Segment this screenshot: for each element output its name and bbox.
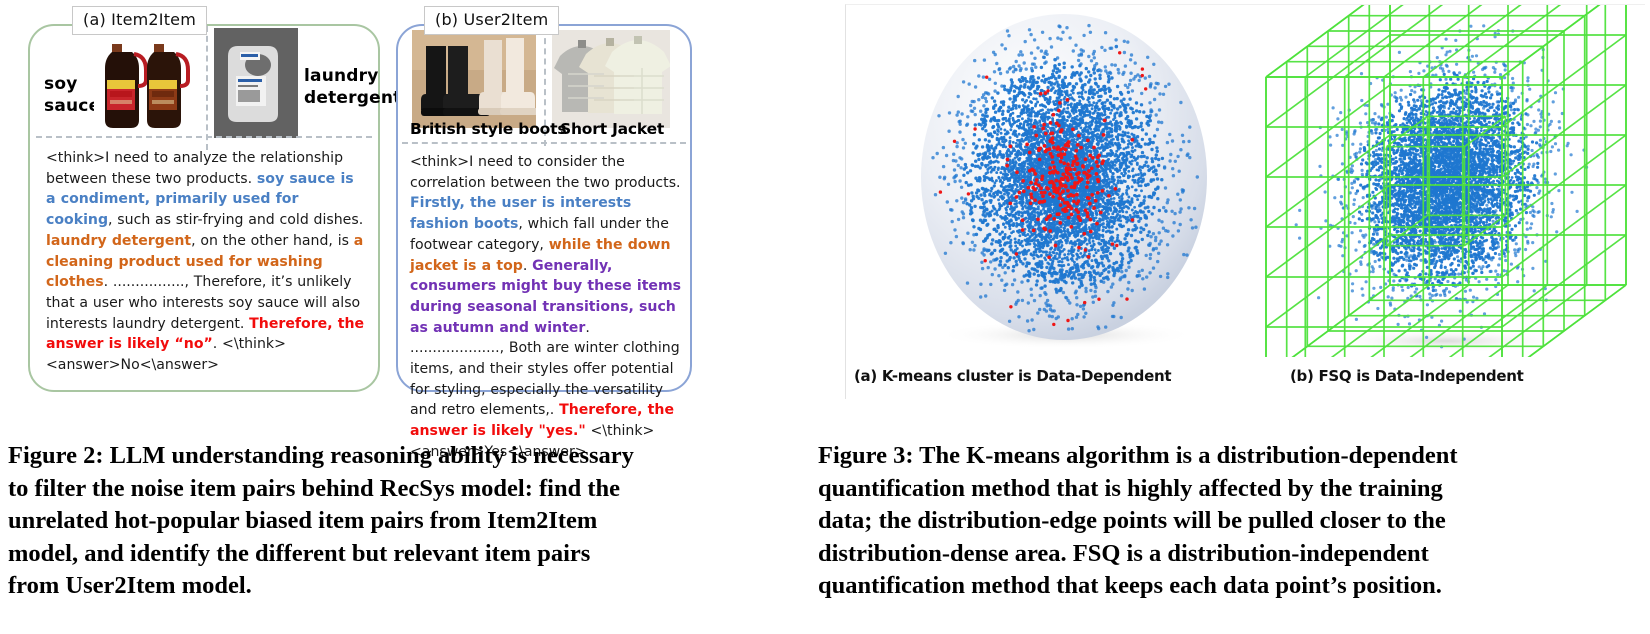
reasoning-segment: , such as stir-frying and cold dishes. bbox=[108, 212, 363, 228]
caption-line: quantification method that keeps each da… bbox=[818, 570, 1638, 603]
reasoning-segment: <\think> bbox=[586, 423, 655, 439]
reasoning-segment: <answer>No<\answer> bbox=[46, 357, 219, 373]
soy-sauce-label-line2: sauce bbox=[44, 96, 100, 118]
scatter-plots-svg bbox=[846, 5, 1646, 357]
panel-b-tag: (b) User2Item bbox=[424, 6, 559, 35]
british-style-boots-image bbox=[412, 30, 536, 128]
reasoning-segment: . <\think> bbox=[213, 336, 286, 352]
jacket-caption: Short Jacket bbox=[560, 120, 664, 138]
caption-line: to filter the noise item pairs behind Re… bbox=[8, 473, 783, 506]
panel-a-image-row: soy sauce bbox=[30, 38, 378, 150]
item2item-reasoning-text: <think>I need to analyze the relationshi… bbox=[46, 148, 368, 376]
figure-3-caption: Figure 3: The K-means algorithm is a dis… bbox=[818, 440, 1638, 603]
laundry-detergent-illustration bbox=[214, 28, 298, 138]
panel-user2item: British style boots Short Jacket <think>… bbox=[396, 24, 692, 392]
figure-page: soy sauce bbox=[0, 0, 1650, 634]
laundry-detergent-image bbox=[214, 28, 298, 138]
boots-illustration bbox=[412, 30, 536, 128]
jacket-illustration bbox=[552, 30, 670, 128]
panel-a-vertical-separator bbox=[206, 26, 208, 150]
figure-3-graphic: (a) K-means cluster is Data-Dependent (b… bbox=[845, 4, 1645, 399]
soy-sauce-illustration bbox=[94, 28, 202, 138]
figure-3-subcaption-b: (b) FSQ is Data-Independent bbox=[1290, 367, 1524, 385]
figure-3-subcaption-a: (a) K-means cluster is Data-Dependent bbox=[854, 367, 1171, 385]
caption-line: Figure 2: LLM understanding reasoning ab… bbox=[8, 440, 783, 473]
figure-2-graphic: soy sauce bbox=[0, 0, 800, 420]
panel-a-tag: (a) Item2Item bbox=[72, 6, 207, 35]
caption-line: distribution-dense area. FSQ is a distri… bbox=[818, 538, 1638, 571]
laundry-label-line2: detergent bbox=[304, 88, 401, 110]
soy-sauce-label-line1: soy bbox=[44, 74, 100, 96]
soy-sauce-image bbox=[94, 28, 202, 138]
reasoning-segment: <think>I need to consider the correlatio… bbox=[410, 154, 681, 191]
figure-2-caption: Figure 2: LLM understanding reasoning ab… bbox=[8, 440, 783, 603]
caption-line: from User2Item model. bbox=[8, 570, 783, 603]
boots-caption: British style boots bbox=[410, 120, 566, 138]
laundry-detergent-label: laundry detergent bbox=[304, 66, 401, 110]
caption-line: model, and identify the different but re… bbox=[8, 538, 783, 571]
panel-a-horizontal-separator bbox=[36, 136, 372, 138]
caption-line: quantification method that is highly aff… bbox=[818, 473, 1638, 506]
user2item-reasoning-text: <think>I need to consider the correlatio… bbox=[410, 152, 682, 463]
laundry-label-line1: laundry bbox=[304, 66, 401, 88]
soy-sauce-label: soy sauce bbox=[44, 74, 100, 118]
panel-b-horizontal-separator bbox=[402, 142, 686, 144]
reasoning-segment: . bbox=[523, 258, 532, 274]
panel-item2item: soy sauce bbox=[28, 24, 380, 392]
caption-line: unrelated hot-popular biased item pairs … bbox=[8, 505, 783, 538]
short-jacket-image bbox=[552, 30, 670, 128]
caption-line: data; the distribution-edge points will … bbox=[818, 505, 1638, 538]
figure-3-plots bbox=[846, 5, 1645, 357]
caption-line: Figure 3: The K-means algorithm is a dis… bbox=[818, 440, 1638, 473]
reasoning-segment: laundry detergent bbox=[46, 233, 191, 249]
reasoning-segment: , on the other hand, is bbox=[191, 233, 354, 249]
